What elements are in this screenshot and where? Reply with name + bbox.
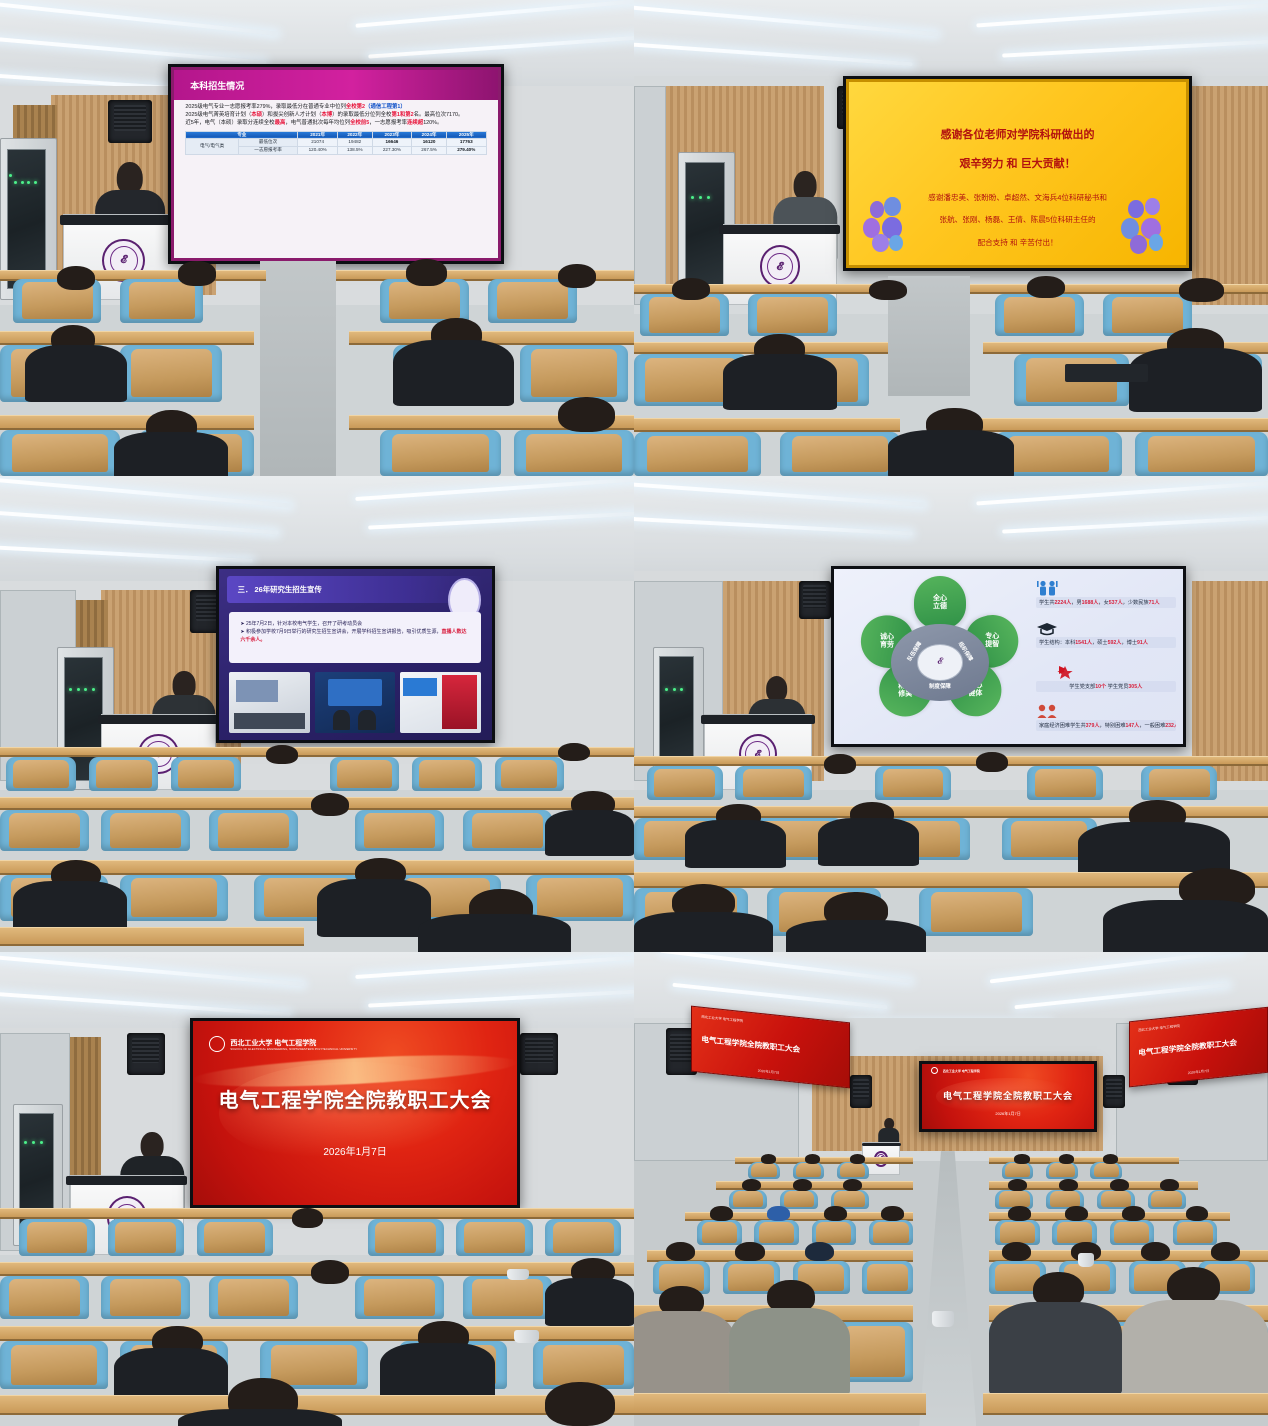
laptop-icon [1065, 364, 1147, 382]
university-seal-icon: 𝓔 [917, 644, 964, 681]
conference-title: 电气工程学院全院教职工大会 [929, 1089, 1087, 1102]
school-crest-icon [209, 1036, 225, 1052]
school-logo: 西北工业大学 电气工程学院 [931, 1067, 980, 1075]
audience-seating [0, 1208, 634, 1426]
bouquet-right-icon [1119, 196, 1176, 262]
family-icon [1036, 704, 1062, 719]
graduation-cap-icon [1036, 622, 1058, 636]
hanging-banner-right: 西北工业大学 电气工程学院 电气工程学院全院教职工大会 2026年1月7日 [1129, 1006, 1268, 1087]
thanks-line-2: 艰辛努力 和 巨大贡献！ [849, 155, 1186, 171]
table-row: 电气/电气类 最低位次 21074 19482 16646 16120 1776… [186, 139, 486, 147]
slide-paragraph-2: 2025级电气菁英培育计划（本硕）和拔尖创新人才计划（本博）的录取最低分位列全校… [185, 112, 486, 120]
conference-date: 2026年1月7日 [922, 1111, 1094, 1117]
speaker-icon [108, 100, 152, 143]
panel-student-work-diagram: 全心 立德 专心 提智 用心 健体 精心 修美 诚心 育劳 [634, 476, 1268, 952]
panel-conference-title: 西北工业大学 电气工程学院 SCHOOL OF ELECTRICAL ENGIN… [0, 952, 634, 1426]
panel-undergraduate-admissions: 本科招生情况 2025级电气专业一志愿报考率279%，录取最低分在普通专业中位列… [0, 0, 634, 476]
speaker-icon-center-left [850, 1075, 872, 1108]
conference-title: 电气工程学院全院教职工大会 [206, 1084, 504, 1113]
stage-screen: 西北工业大学 电气工程学院 电气工程学院全院教职工大会 2026年1月7日 [919, 1061, 1097, 1132]
projection-screen: 三． 26年研究生招生宣传 ➤ 25年7月2日，针对本校电气学生，召开了研考动员… [216, 566, 495, 742]
stat-text-students: 学生共2224人，男1688人，女537人，少数民族71人 [1036, 597, 1176, 608]
slide-header: 本科招生情况 [174, 70, 498, 100]
slide-research-thanks: 感谢各位老师对学院科研做出的 艰辛努力 和 巨大贡献！ 感谢潘忠美、张盼盼、卓超… [846, 79, 1189, 268]
audience-seating [634, 752, 1268, 952]
slide-student-work-petals: 全心 立德 专心 提智 用心 健体 精心 修美 诚心 育劳 [834, 569, 1183, 744]
projection-screen: 全心 立德 专心 提智 用心 健体 精心 修美 诚心 育劳 [831, 566, 1186, 747]
thumbnail-1: 研考动员会现场 [229, 672, 309, 733]
wood-wall-right [1192, 86, 1268, 305]
thumbnail-3: 线上直播宣讲海报 [400, 672, 480, 733]
cup-icon [932, 1311, 954, 1327]
panel-full-auditorium: 西北工业大学 电气工程学院 电气工程学院全院教职工大会 2026年1月7日 西北… [634, 952, 1268, 1426]
stat-row-students: 学生共2224人，男1688人，女537人，少数民族71人 [1036, 580, 1176, 618]
table-header-row: 专业 2021年 2022年 2023年 2024年 2025年 [186, 131, 486, 139]
cup-icon [507, 1269, 529, 1280]
panel-graduate-recruitment: 三． 26年研究生招生宣传 ➤ 25年7月2日，针对本校电气学生，召开了研考动员… [0, 476, 634, 952]
audience-seating [634, 276, 1268, 476]
panel-research-thanks: 感谢各位老师对学院科研做出的 艰辛努力 和 巨大贡献！ 感谢潘忠美、张盼盼、卓超… [634, 0, 1268, 476]
projection-screen: 西北工业大学 电气工程学院 SCHOOL OF ELECTRICAL ENGIN… [190, 1018, 520, 1208]
speaker-icon-center-right [1103, 1075, 1125, 1108]
audience-seating [634, 1151, 1268, 1426]
petal-top: 全心 立德 [914, 576, 966, 628]
cup-icon [514, 1330, 539, 1343]
stat-text-financial-aid: 家庭经济困难学生共379人，特别困难147人，一般困难232人 [1036, 720, 1176, 731]
school-logo: 西北工业大学 电气工程学院 SCHOOL OF ELECTRICAL ENGIN… [209, 1032, 357, 1056]
thumbnail-2: 研究生招生宣讲会 [315, 672, 395, 733]
slide-paragraph-3: 近5年，电气（本硕）录取分连续全校最高，电气普通批次每年均位列全校前5，一志愿报… [185, 120, 486, 128]
photo-collage: 本科招生情况 2025级电气专业一志愿报考率279%，录取最低分在普通专业中位列… [0, 0, 1268, 1426]
party-emblem-icon [1056, 664, 1074, 680]
stat-text-structure: 学生结构：本科1541人，硕士592人，博士91人 [1036, 637, 1176, 648]
slide-header: 三． 26年研究生招生宣传 [227, 576, 484, 603]
speaker-icon [127, 1033, 165, 1076]
slide-graduate-recruitment: 三． 26年研究生招生宣传 ➤ 25年7月2日，针对本校电气学生，召开了研考动员… [219, 569, 492, 739]
thanks-line-1: 感谢各位老师对学院科研做出的 [849, 126, 1186, 142]
slide-undergraduate-admissions: 本科招生情况 2025级电气专业一志愿报考率279%，录取最低分在普通专业中位列… [171, 67, 501, 261]
slide-bullet-2: ➤ 积极参加学校7月9日举行的研究生招生宣讲会，开展学科招生宣讲报告，吸引优质生… [240, 628, 469, 644]
wood-wall-right [1192, 581, 1268, 781]
stat-row-financial-aid: 家庭经济困难学生共379人，特别困难147人，一般困难232人 [1036, 704, 1176, 742]
lecture-hall-scene: 本科招生情况 2025级电气专业一志愿报考率279%，录取最低分在普通专业中位列… [0, 0, 634, 476]
audience-seating [0, 257, 634, 476]
conference-date: 2026年1月7日 [193, 1143, 517, 1158]
bouquet-left-icon [859, 196, 916, 262]
stat-text-party: 学生党支部10个 学生党员305人 [1036, 681, 1176, 692]
speaker-icon [799, 581, 831, 619]
slide-bullet-1: ➤ 25年7月2日，针对本校电气学生，召开了研考动员会 [240, 620, 469, 628]
slide-paragraph-1: 2025级电气专业一志愿报考率279%，录取最低分在普通专业中位列全校第2（通信… [185, 104, 486, 112]
projection-screen: 本科招生情况 2025级电气专业一志愿报考率279%，录取最低分在普通专业中位列… [168, 64, 504, 264]
speaker-icon-right [520, 1033, 558, 1076]
slide-thumbnail-strip: 研考动员会现场 研究生招生宣讲会 线上直播宣讲 [229, 672, 480, 733]
students-icon [1036, 580, 1060, 596]
school-crest-icon [931, 1067, 938, 1074]
projection-screen: 感谢各位老师对学院科研做出的 艰辛努力 和 巨大贡献！ 感谢潘忠美、张盼盼、卓超… [843, 76, 1192, 271]
diagram-hub: 队伍保障 组织保障 制度保障 𝓔 [891, 624, 989, 701]
stat-row-party: 学生党支部10个 学生党员305人 [1036, 664, 1176, 702]
slide-conference-title-far: 西北工业大学 电气工程学院 电气工程学院全院教职工大会 2026年1月7日 [922, 1064, 1094, 1129]
stat-row-structure: 学生结构：本科1541人，硕士592人，博士91人 [1036, 622, 1176, 660]
audience-seating [0, 743, 634, 952]
slide-conference-title: 西北工业大学 电气工程学院 SCHOOL OF ELECTRICAL ENGIN… [193, 1021, 517, 1205]
cup-icon [1078, 1253, 1094, 1267]
admissions-table: 专业 2021年 2022年 2023年 2024年 2025年 电气/电 [185, 131, 486, 155]
